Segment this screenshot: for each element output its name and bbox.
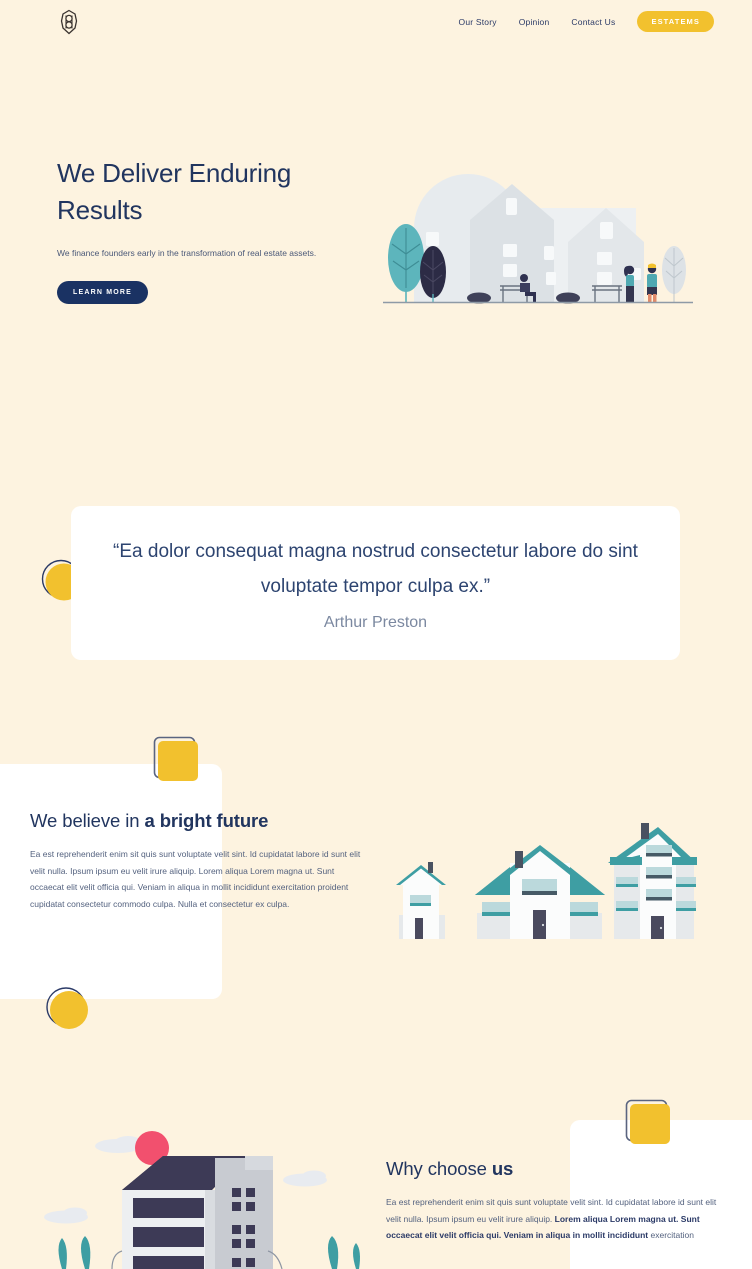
main-navigation: Our Story Opinion Contact Us ESTATEMS: [459, 11, 714, 32]
hero-section: We Deliver Enduring Results We finance f…: [0, 150, 752, 335]
nav-link-our-story[interactable]: Our Story: [459, 17, 497, 27]
deco-square-yellow-1: [152, 735, 200, 783]
testimonial-card: “Ea dolor consequat magna nostrud consec…: [71, 506, 680, 660]
testimonial-author: Arthur Preston: [324, 614, 427, 632]
bright-future-title-bold: a bright future: [144, 810, 268, 831]
why-choose-body-part2: exercitation: [648, 1230, 694, 1240]
hero-title: We Deliver Enduring Results: [57, 155, 367, 229]
estatems-cta-button[interactable]: ESTATEMS: [637, 11, 714, 32]
deco-circle-yellow-2: [44, 985, 89, 1030]
why-choose-title: Why choose us: [386, 1158, 736, 1180]
nav-link-opinion[interactable]: Opinion: [519, 17, 550, 27]
hero-copy: We Deliver Enduring Results We finance f…: [57, 155, 367, 304]
deco-square-yellow-2: [624, 1098, 671, 1145]
neighborhood-houses-people-illustration: [378, 150, 698, 315]
testimonial-quote: “Ea dolor consequat magna nostrud consec…: [96, 534, 656, 604]
apartment-building-trees-illustration: [0, 1118, 380, 1269]
site-header: Our Story Opinion Contact Us ESTATEMS: [0, 0, 752, 42]
landing-page: Our Story Opinion Contact Us ESTATEMS We…: [0, 0, 752, 1269]
why-choose-body: Ea est reprehenderit enim sit quis sunt …: [386, 1194, 731, 1244]
why-choose-copy: Why choose us Ea est reprehenderit enim …: [386, 1158, 736, 1244]
yellow-circle-decoration-icon: [44, 985, 93, 1034]
hexagon-monogram-icon: [55, 8, 83, 36]
brand-logo[interactable]: [55, 8, 83, 36]
hero-illustration: [378, 150, 698, 315]
why-choose-title-bold: us: [492, 1158, 513, 1179]
bright-future-illustration: [382, 815, 697, 940]
learn-more-button[interactable]: LEARN MORE: [57, 281, 148, 304]
bright-future-copy: We believe in a bright future Ea est rep…: [30, 810, 375, 912]
nav-link-contact-us[interactable]: Contact Us: [571, 17, 615, 27]
hero-subtitle: We finance founders early in the transfo…: [57, 245, 352, 262]
bright-future-body: Ea est reprehenderit enim sit quis sunt …: [30, 846, 366, 912]
three-houses-illustration: [382, 815, 697, 940]
why-choose-illustration: [0, 1118, 380, 1269]
yellow-square-decoration-icon: [152, 735, 204, 787]
why-choose-title-normal: Why choose: [386, 1158, 492, 1179]
bright-future-title-normal: We believe in: [30, 810, 144, 831]
bright-future-title: We believe in a bright future: [30, 810, 375, 832]
yellow-square-decoration-icon: [624, 1098, 676, 1150]
